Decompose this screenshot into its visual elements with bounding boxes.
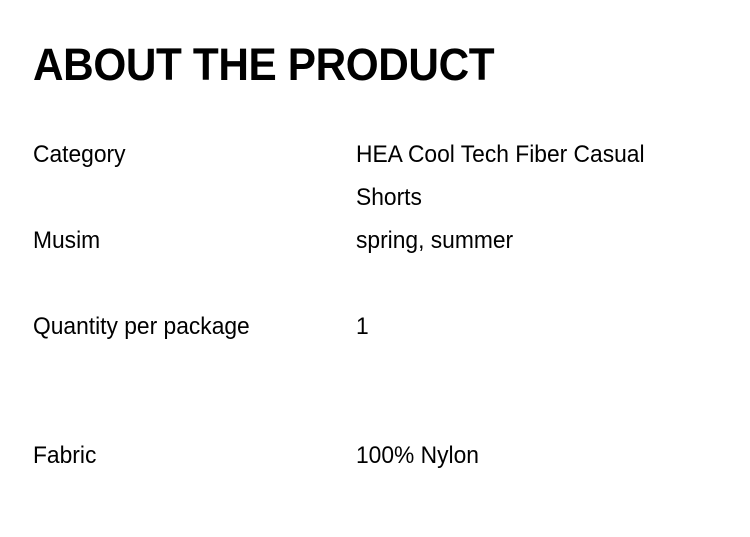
product-spec-table: Category HEA Cool Tech Fiber Casual Shor… (33, 133, 723, 477)
table-row: Musim spring, summer (33, 219, 723, 262)
table-row: Fabric 100% Nylon (33, 434, 723, 477)
table-row: Quantity per package 1 (33, 305, 723, 348)
table-row-spacer (33, 348, 723, 391)
spec-label-blank-2 (33, 348, 339, 391)
spec-value-fabric: 100% Nylon (356, 434, 705, 477)
spec-value-blank-3 (356, 391, 705, 434)
spec-value-blank-1 (356, 262, 705, 305)
spec-value-blank-2 (356, 348, 705, 391)
spec-label-blank-1 (33, 262, 339, 305)
spec-label-musim: Musim (33, 219, 339, 262)
table-row: Category HEA Cool Tech Fiber Casual Shor… (33, 133, 723, 219)
spec-label-blank-3 (33, 391, 339, 434)
spec-label-fabric: Fabric (33, 434, 339, 477)
table-row-spacer (33, 391, 723, 434)
spec-value-quantity-per-package: 1 (356, 305, 705, 348)
spec-label-quantity-per-package: Quantity per package (33, 305, 339, 348)
spec-label-category: Category (33, 133, 339, 219)
about-the-product-panel: ABOUT THE PRODUCT Category HEA Cool Tech… (0, 0, 750, 537)
spec-value-musim: spring, summer (356, 219, 705, 262)
table-row-spacer (33, 262, 723, 305)
spec-value-category: HEA Cool Tech Fiber Casual Shorts (356, 133, 705, 219)
page-title: ABOUT THE PRODUCT (33, 41, 494, 89)
